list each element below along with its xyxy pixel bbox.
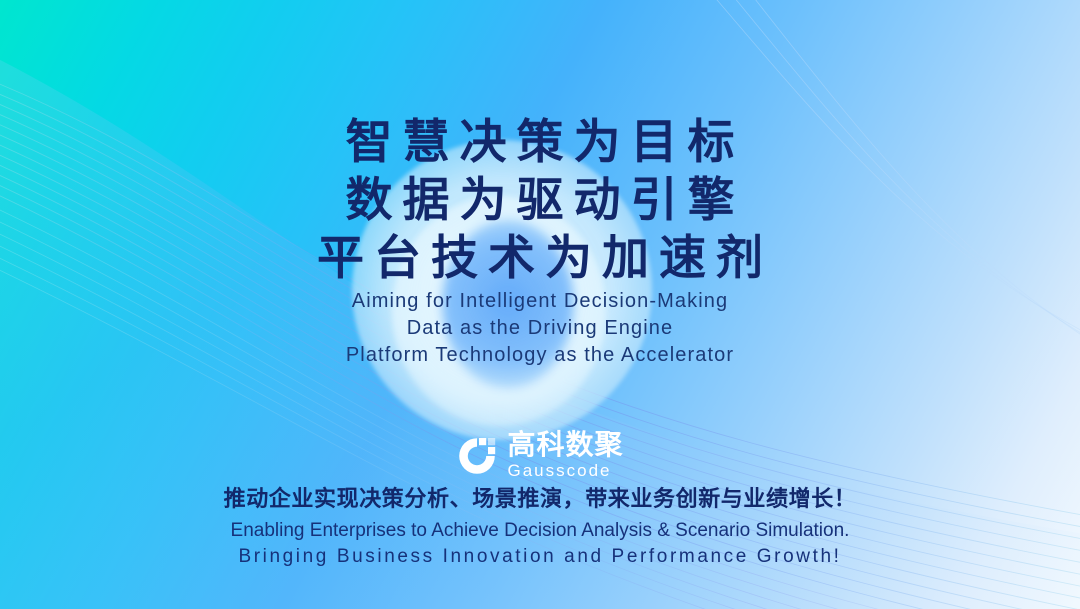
tagline-english-line-1: Enabling Enterprises to Achieve Decision… bbox=[0, 518, 1080, 544]
subheadline-line-1: Aiming for Intelligent Decision-Making bbox=[0, 288, 1080, 315]
banner-content: 智慧决策为目标 数据为驱动引擎 平台技术为加速剂 Aiming for Inte… bbox=[0, 0, 1080, 609]
logo-wordmark: 高科数聚 Gausscode bbox=[507, 430, 623, 481]
logo-lockup: 高科数聚 Gausscode bbox=[0, 430, 1080, 481]
tagline-chinese: 推动企业实现决策分析、场景推演，带来业务创新与业绩增长！ bbox=[0, 484, 1080, 514]
subheadline-line-2: Data as the Driving Engine bbox=[0, 315, 1080, 342]
logo-name-en: Gausscode bbox=[507, 461, 623, 481]
tagline-english: Enabling Enterprises to Achieve Decision… bbox=[0, 518, 1080, 570]
logo-name-cn: 高科数聚 bbox=[507, 430, 623, 460]
headline-line-3: 平台技术为加速剂 bbox=[0, 229, 1080, 287]
subheadline: Aiming for Intelligent Decision-Making D… bbox=[0, 288, 1080, 369]
headline: 智慧决策为目标 数据为驱动引擎 平台技术为加速剂 bbox=[0, 113, 1080, 287]
subheadline-line-3: Platform Technology as the Accelerator bbox=[0, 342, 1080, 369]
headline-line-2: 数据为驱动引擎 bbox=[0, 171, 1080, 229]
tagline-english-line-2: Bringing Business Innovation and Perform… bbox=[0, 544, 1080, 570]
headline-line-1: 智慧决策为目标 bbox=[0, 113, 1080, 171]
brand-banner: 智慧决策为目标 数据为驱动引擎 平台技术为加速剂 Aiming for Inte… bbox=[0, 0, 1080, 609]
gausscode-logo-icon bbox=[456, 435, 498, 477]
